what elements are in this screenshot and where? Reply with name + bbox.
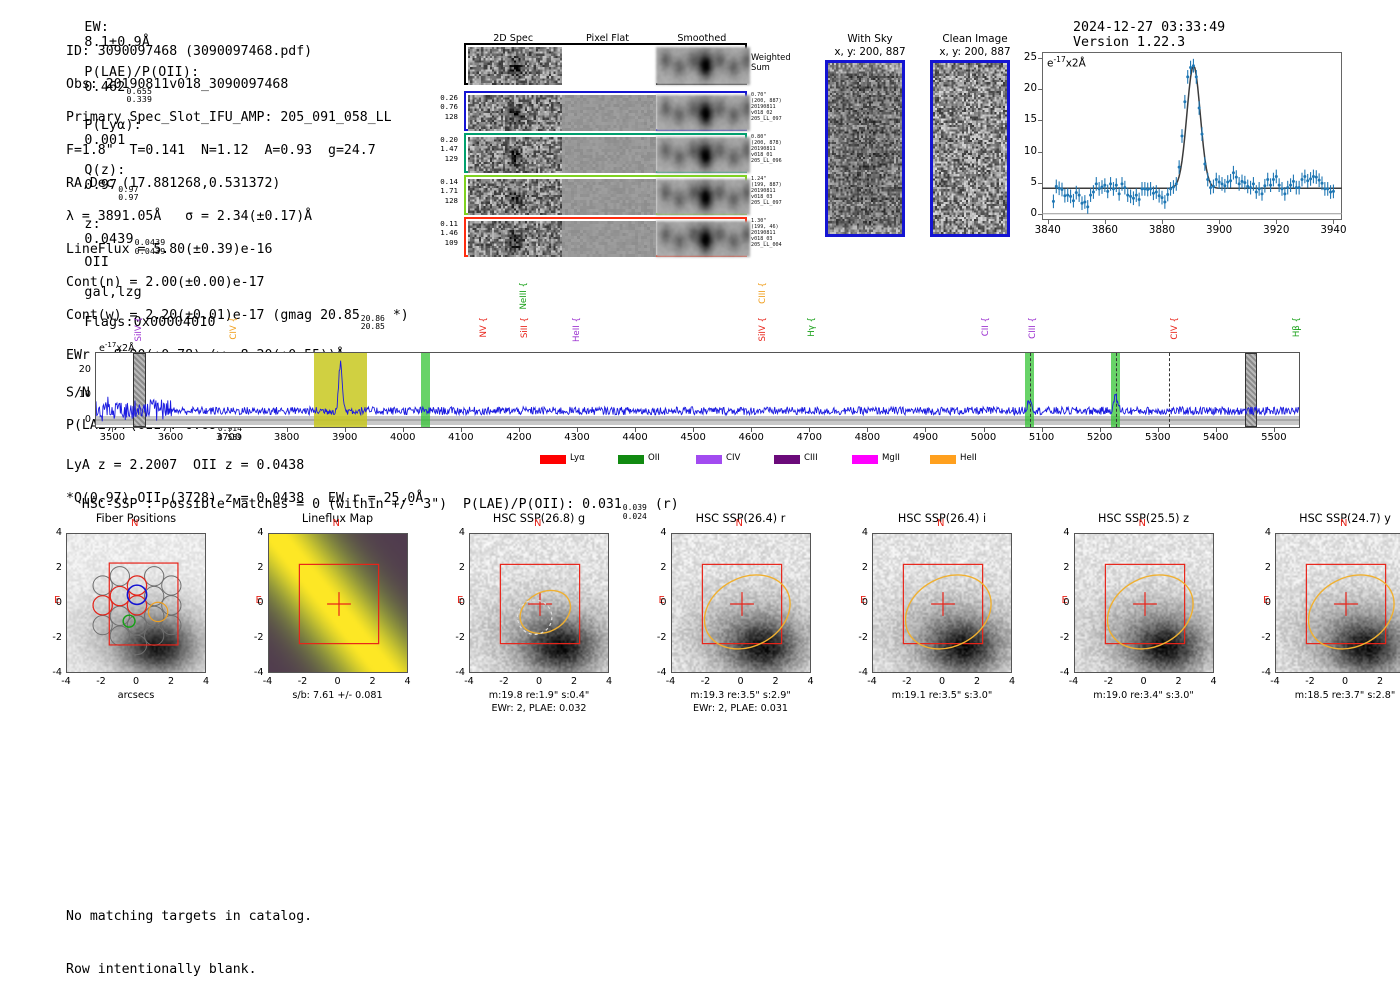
spectrum-x-tick: [635, 428, 636, 432]
cutout-image-0: [825, 60, 905, 237]
spectrum-x-tick-label: 3700: [199, 432, 259, 443]
legend-swatch-ciii: [774, 455, 800, 464]
cutout-image-1: [930, 60, 1010, 237]
target-info-block: ID: 3090097468 (3090097468.pdf) Obs: 201…: [66, 28, 423, 524]
panel-x-tick: -2: [893, 676, 921, 687]
panel-y-tick: 4: [246, 527, 264, 538]
panel-y-tick: -4: [1253, 667, 1271, 678]
info-cont-w: Cont(w) = 2.20(±0.01)e-17 (gmag 20.8520.…: [66, 308, 423, 332]
compass-north-0: N: [131, 518, 138, 529]
pixel-flat-image: [562, 95, 656, 131]
panel-y-tick: -4: [44, 667, 62, 678]
compass-north-2: N: [534, 518, 541, 529]
hsc-header-text: HSC-SSP : Possible Matches = 0 (within +…: [82, 497, 622, 512]
spectrum-x-tick-label: 4000: [373, 432, 433, 443]
panel-caption-6: m:18.5 re:3.7" s:2.8": [1260, 690, 1400, 703]
spectrum-trace: [96, 353, 1300, 428]
spectrum-x-tick-label: 4700: [779, 432, 839, 443]
spec2d-row-metrics: 0.14 1.71 128: [424, 177, 458, 205]
panel-x-tick: 4: [595, 676, 623, 687]
legend-label-ciii: CIII: [804, 453, 818, 463]
legend-label-heii: HeII: [960, 453, 977, 463]
spectrum-x-tick: [693, 428, 694, 432]
spectrum-x-tick-label: 4900: [895, 432, 955, 443]
panel-overlay: [873, 534, 1012, 673]
timestamp: 2024-12-27 03:33:49: [1073, 20, 1225, 35]
panel-y-tick: -2: [44, 632, 62, 643]
spec2d-row-metrics: 0.20 1.47 129: [424, 135, 458, 163]
hsc-plae-range: 0.0390.024: [623, 504, 647, 520]
spec2d-row: [464, 175, 747, 215]
hsc-header-filter: (r): [655, 497, 679, 512]
spectrum-x-tick-label: 4100: [431, 432, 491, 443]
cutout-name: Clean Image: [942, 33, 1007, 45]
spectrum-line-label-siiv-0: SiIV {: [134, 317, 144, 341]
panel-y-tick: 2: [246, 562, 264, 573]
smoothed-image: [656, 137, 750, 173]
panel-y-tick: -4: [649, 667, 667, 678]
compass-north-4: N: [937, 518, 944, 529]
footer-line-1: No matching targets in catalog.: [66, 908, 312, 926]
panel-y-tick: 4: [850, 527, 868, 538]
cutout-name: With Sky: [847, 33, 892, 45]
footer-line-2: Row intentionally blank.: [66, 961, 312, 979]
cutout-title-0: With Skyx, y: 200, 887: [815, 33, 925, 58]
info-obs: Obs: 20190811v018_3090097468: [66, 77, 423, 93]
panel-y-tick: 4: [44, 527, 62, 538]
spec2d-image: [468, 95, 562, 131]
spectrum-units-annotation: e-17x2Å: [99, 341, 135, 354]
panel-y-tick: -4: [246, 667, 264, 678]
panel-y-tick: 0: [649, 597, 667, 608]
spec2d-row-meta: 1.30" (199, 46) 20190811 v018_03 205_LL_…: [751, 218, 782, 248]
panel-y-tick: -2: [649, 632, 667, 643]
panel-x-tick: 0: [727, 676, 755, 687]
panel-caption-2: m:19.8 re:1.9" s:0.4": [454, 690, 624, 703]
y-tick-label: 25: [1012, 51, 1037, 63]
panel-y-tick: 0: [1052, 597, 1070, 608]
panel-x-tick: 4: [797, 676, 825, 687]
spectrum-x-tick-label: 4300: [547, 432, 607, 443]
spectrum-y-tick-label: 20: [67, 364, 91, 375]
y-tick-label: 15: [1012, 113, 1037, 125]
spectrum-line-label-neiii-3: NeIII {: [519, 282, 529, 310]
spectrum-y-tick-label: 10: [67, 389, 91, 400]
spectrum-x-tick-label: 5300: [1128, 432, 1188, 443]
panel-y-tick: -2: [246, 632, 264, 643]
panel-x-tick: 0: [928, 676, 956, 687]
spec2d-row-meta: 0.80" (200, 878) 20190811 v018_01 205_LL…: [751, 134, 782, 164]
panel-x-tick: 0: [525, 676, 553, 687]
smoothed-image: [656, 221, 750, 257]
smoothed-image: [656, 95, 750, 131]
info-id: ID: 3090097468 (3090097468.pdf): [66, 44, 423, 60]
legend-label-oii: OII: [648, 453, 660, 463]
info-lineflux: LineFlux = 5.80(±0.39)e-16: [66, 242, 423, 258]
panel-y-tick: 2: [850, 562, 868, 573]
pixel-flat-image: [562, 137, 656, 173]
spectrum-x-tick: [751, 428, 752, 432]
panel-y-tick: -4: [850, 667, 868, 678]
panel-overlay: [269, 534, 408, 673]
spectrum-x-tick-label: 4200: [489, 432, 549, 443]
weighted-sum-label: Weighted Sum: [751, 52, 791, 72]
panel-y-tick: 4: [1052, 527, 1070, 538]
version-label: Version 1.22.3: [1073, 35, 1185, 50]
y-tick-label: 20: [1012, 82, 1037, 94]
spectrum-x-tick-label: 5200: [1070, 432, 1130, 443]
panel-overlay: [1276, 534, 1400, 673]
spec2d-row-metrics: 0.26 0.76 128: [424, 93, 458, 121]
compass-north-6: N: [1340, 518, 1347, 529]
panel-caption2-3: EWr: 2, PLAE: 0.031: [656, 703, 826, 714]
spec2d-image: [468, 221, 562, 257]
panel-x-tick: 0: [324, 676, 352, 687]
legend-swatch-mgii: [852, 455, 878, 464]
panel-overlay: [672, 534, 811, 673]
spec2d-row: [464, 43, 747, 85]
spectrum-x-tick: [984, 428, 985, 432]
spectrum-x-tick-label: 4600: [721, 432, 781, 443]
panel-x-tick: 4: [192, 676, 220, 687]
panel-x-tick: 2: [359, 676, 387, 687]
panel-title-6: HSC SSP(24.7) y: [1269, 512, 1400, 525]
spec2d-row-metrics: 0.11 1.46 109: [424, 219, 458, 247]
pixel-flat-image: [562, 47, 656, 85]
spectrum-line-label-civ-11: CIV {: [1170, 317, 1180, 340]
x-tick: [1276, 220, 1277, 224]
spectrum-line-label-siiv-7: SiIV {: [758, 317, 768, 341]
panel-x-tick: -2: [490, 676, 518, 687]
spectrum-line-label-siii-4: SiII {: [520, 317, 530, 338]
spectrum-x-tick-label: 3800: [257, 432, 317, 443]
legend-swatch-lyα: [540, 455, 566, 464]
info-lambda: λ = 3891.05Å σ = 2.34(±0.17)Å: [66, 209, 423, 225]
spectrum-x-tick: [112, 428, 113, 432]
spectrum-x-tick: [867, 428, 868, 432]
spectrum-y-tick-label: 0: [67, 414, 91, 425]
panel-x-tick: 2: [560, 676, 588, 687]
gmag-range: 20.8620.85: [361, 315, 385, 331]
x-tick: [1333, 220, 1334, 224]
panel-x-tick: -2: [289, 676, 317, 687]
cutout-coords: x, y: 200, 887: [834, 46, 905, 58]
cutout-panel-0: [66, 533, 206, 673]
panel-caption-4: m:19.1 re:3.5" s:3.0": [857, 690, 1027, 703]
panel-x-tick: 0: [1130, 676, 1158, 687]
footer-note: No matching targets in catalog. Row inte…: [66, 873, 312, 996]
x-tick-label: 3940: [1307, 224, 1359, 236]
legend-swatch-heii: [930, 455, 956, 464]
panel-y-tick: 4: [649, 527, 667, 538]
spectrum-x-tick-label: 5100: [1012, 432, 1072, 443]
smoothed-image: [656, 47, 750, 85]
panel-overlay: [1075, 534, 1214, 673]
spectrum-line-label-heii-5: HeII {: [572, 317, 582, 342]
spectrum-x-tick-label: 3900: [315, 432, 375, 443]
legend-swatch-civ: [696, 455, 722, 464]
panel-y-tick: 2: [447, 562, 465, 573]
spectrum-x-tick: [1216, 428, 1217, 432]
spec2d-image: [468, 47, 562, 85]
panel-y-tick: -4: [447, 667, 465, 678]
spectrum-line-label-civ-1: CIV {: [229, 317, 239, 340]
x-tick: [1048, 220, 1049, 224]
spec2d-row: [464, 133, 747, 173]
spec2d-row-meta: 0.70" (200, 887) 20190811 v018_02 205_LL…: [751, 92, 782, 122]
spectrum-x-tick: [1158, 428, 1159, 432]
header-timestamp-block: 2024-12-27 03:33:49 Version 1.22.3: [1057, 5, 1233, 50]
x-tick: [1162, 220, 1163, 224]
spectrum-line-label-nv-2: NV {: [479, 317, 489, 338]
compass-north-1: N: [333, 518, 340, 529]
panel-x-tick: 4: [394, 676, 422, 687]
panel-x-tick: 4: [998, 676, 1026, 687]
spectrum-x-tick-label: 3600: [140, 432, 200, 443]
panel-x-tick: 2: [1366, 676, 1394, 687]
panel-x-tick: -2: [87, 676, 115, 687]
info-primary-spec: Primary Spec_Slot_IFU_AMP: 205_091_058_L…: [66, 110, 423, 126]
panel-y-tick: 2: [1052, 562, 1070, 573]
panel-x-tick: 2: [1165, 676, 1193, 687]
spectrum-x-tick-label: 3500: [82, 432, 142, 443]
info-redshifts: LyA z = 2.2007 OII z = 0.0438: [66, 458, 423, 474]
compass-north-3: N: [736, 518, 743, 529]
smoothed-image: [656, 179, 750, 215]
panel-x-tick: 2: [157, 676, 185, 687]
x-tick-label: 3840: [1022, 224, 1074, 236]
spectrum-x-tick: [1042, 428, 1043, 432]
spec2d-image: [468, 179, 562, 215]
panel-y-tick: 4: [447, 527, 465, 538]
x-tick-label: 3860: [1079, 224, 1131, 236]
legend-label-mgii: MgII: [882, 453, 900, 463]
panel-x-tick: 0: [1331, 676, 1359, 687]
panel-y-tick: 0: [1253, 597, 1271, 608]
spectrum-line-label-ciii-10: CIII {: [1028, 317, 1038, 339]
pixel-flat-image: [562, 221, 656, 257]
spectrum-x-tick-label: 5400: [1186, 432, 1246, 443]
cutout-panel-1: [268, 533, 408, 673]
spectrum-x-tick: [170, 428, 171, 432]
spectrum-x-tick-label: 4800: [837, 432, 897, 443]
panel-overlay: [67, 534, 206, 673]
pixel-flat-image: [562, 179, 656, 215]
panel-x-tick: 0: [122, 676, 150, 687]
spectrum-x-tick: [229, 428, 230, 432]
cutout-panel-3: [671, 533, 811, 673]
x-tick-label: 3900: [1193, 224, 1245, 236]
spectrum-x-tick: [345, 428, 346, 432]
spectrum-line-label-cii-9: CII {: [981, 317, 991, 336]
spectrum-line-label-ciii-6: CIII {: [758, 282, 768, 304]
panel-y-tick: -4: [1052, 667, 1070, 678]
panel-y-tick: 0: [44, 597, 62, 608]
panel-y-tick: -2: [1052, 632, 1070, 643]
x-tick: [1219, 220, 1220, 224]
panel-y-tick: -2: [1253, 632, 1271, 643]
panel-y-tick: 2: [649, 562, 667, 573]
panel-caption-3: m:19.3 re:3.5" s:2.9": [656, 690, 826, 703]
spec2d-row-meta: 1.24" (199, 887) 20190811 v018_03 205_LL…: [751, 176, 782, 206]
panel-x-tick: 2: [762, 676, 790, 687]
spec2d-row: [464, 91, 747, 131]
spectrum-line-label-hγ-8: Hγ {: [807, 317, 817, 337]
panel-y-tick: 0: [246, 597, 264, 608]
panel-x-tick: -2: [1296, 676, 1324, 687]
legend-label-lyα: Lyα: [570, 453, 585, 463]
x-tick-label: 3880: [1136, 224, 1188, 236]
line-profile-data: [1042, 52, 1342, 220]
panel-x-tick: 4: [1200, 676, 1228, 687]
x-tick: [1105, 220, 1106, 224]
spectrum-x-tick: [1274, 428, 1275, 432]
info-cont-n: Cont(n) = 2.00(±0.00)e-17: [66, 275, 423, 291]
spectrum-axes: [95, 352, 1300, 428]
legend-swatch-oii: [618, 455, 644, 464]
spectrum-x-tick-label: 4400: [605, 432, 665, 443]
panel-caption-5: m:19.0 re:3.4" s:3.0": [1059, 690, 1229, 703]
spectrum-x-tick: [577, 428, 578, 432]
panel-x-tick: -2: [1095, 676, 1123, 687]
cutout-panel-6: [1275, 533, 1400, 673]
cutout-panel-4: [872, 533, 1012, 673]
x-tick-label: 3920: [1250, 224, 1302, 236]
panel-y-tick: 0: [447, 597, 465, 608]
spec2d-image: [468, 137, 562, 173]
cutout-coords: x, y: 200, 887: [939, 46, 1010, 58]
y-tick-label: 0: [1012, 207, 1037, 219]
spec2d-row: [464, 217, 747, 257]
panel-y-tick: 4: [1253, 527, 1271, 538]
panel-x-tick: -2: [692, 676, 720, 687]
panel-caption2-2: EWr: 2, PLAE: 0.032: [454, 703, 624, 714]
spectrum-x-tick-label: 4500: [663, 432, 723, 443]
cutout-panel-5: [1074, 533, 1214, 673]
spectrum-x-tick: [925, 428, 926, 432]
spectrum-x-tick: [461, 428, 462, 432]
panel-y-tick: 0: [850, 597, 868, 608]
spectrum-x-tick: [809, 428, 810, 432]
panel-y-tick: 2: [1253, 562, 1271, 573]
y-tick-label: 5: [1012, 176, 1037, 188]
panel-x-tick: 2: [963, 676, 991, 687]
spectrum-x-tick: [519, 428, 520, 432]
spectrum-x-tick: [1100, 428, 1101, 432]
cutout-panel-2: [469, 533, 609, 673]
compass-north-5: N: [1139, 518, 1146, 529]
spectrum-line-label-hβ-12: Hβ {: [1292, 317, 1302, 337]
y-tick-label: 10: [1012, 145, 1037, 157]
panel-overlay: [470, 534, 609, 673]
spectrum-x-tick-label: 5000: [954, 432, 1014, 443]
spectrum-x-tick: [403, 428, 404, 432]
info-seeing: F=1.8" T=0.141 N=1.12 A=0.93 g=24.7: [66, 143, 423, 159]
panel-caption-1: s/b: 7.61 +/- 0.081: [253, 690, 423, 703]
spectrum-x-tick-label: 5500: [1244, 432, 1304, 443]
panel-y-tick: 2: [44, 562, 62, 573]
spectrum-x-tick: [287, 428, 288, 432]
panel-xlabel-0: arcsecs: [56, 690, 216, 701]
panel-y-tick: -2: [850, 632, 868, 643]
info-radec: RA,Dec (17.881268,0.531372): [66, 176, 423, 192]
legend-label-civ: CIV: [726, 453, 740, 463]
panel-y-tick: -2: [447, 632, 465, 643]
